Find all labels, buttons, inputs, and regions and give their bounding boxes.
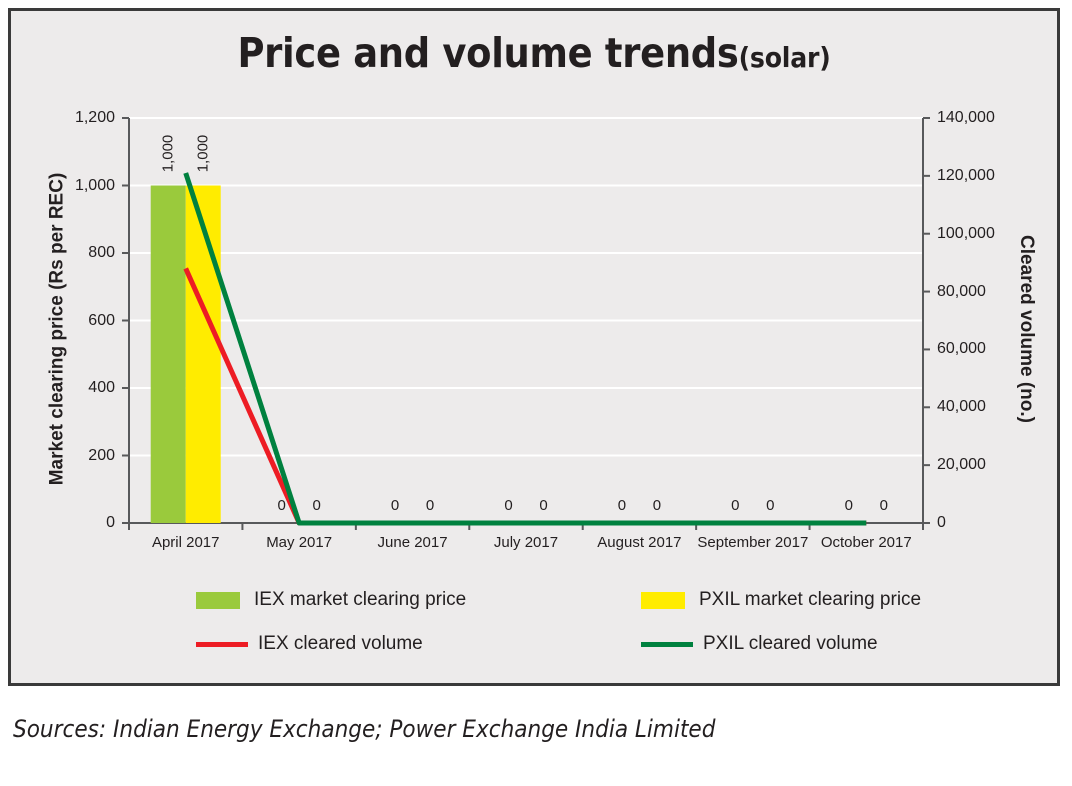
chart-legend: IEX market clearing pricePXIL market cle… xyxy=(11,581,1063,671)
bar-value-label: 1,000 xyxy=(161,129,176,177)
y-axis-left-tick-label: 800 xyxy=(51,245,115,261)
y-axis-right-tick-label: 20,000 xyxy=(937,457,1027,473)
y-axis-right-tick-label: 140,000 xyxy=(937,110,1027,126)
y-axis-right-tick-label: 40,000 xyxy=(937,399,1027,415)
legend-swatch-line-icon xyxy=(641,642,693,647)
y-axis-right-tick-label: 80,000 xyxy=(937,284,1027,300)
bar-value-label: 0 xyxy=(639,498,675,513)
y-axis-left-tick-label: 200 xyxy=(51,448,115,464)
legend-label: PXIL market clearing price xyxy=(699,589,921,611)
legend-swatch-line-icon xyxy=(196,642,248,647)
x-axis-category-label: May 2017 xyxy=(234,535,363,550)
x-axis-category-label: June 2017 xyxy=(348,535,477,550)
y-axis-right-tick-label: 60,000 xyxy=(937,341,1027,357)
y-axis-left-tick-label: 600 xyxy=(51,313,115,329)
legend-item[interactable]: PXIL market clearing price xyxy=(641,589,921,611)
y-axis-left-tick-label: 400 xyxy=(51,380,115,396)
y-axis-left-tick-label: 0 xyxy=(51,515,115,531)
bar-value-label: 0 xyxy=(299,498,335,513)
x-axis-category-label: April 2017 xyxy=(121,535,250,550)
x-axis-category-label: October 2017 xyxy=(802,535,931,550)
legend-label: IEX cleared volume xyxy=(258,633,423,655)
bar-value-label: 0 xyxy=(866,498,902,513)
x-axis-category-label: July 2017 xyxy=(461,535,590,550)
bar-value-label: 0 xyxy=(412,498,448,513)
legend-item[interactable]: IEX market clearing price xyxy=(196,589,466,611)
y-axis-right-tick-label: 0 xyxy=(937,515,1027,531)
y-axis-left-tick-label: 1,000 xyxy=(51,178,115,194)
bar-value-label: 1,000 xyxy=(196,129,211,177)
legend-swatch-bar-icon xyxy=(196,592,240,609)
bar xyxy=(186,186,221,524)
source-note: Sources: Indian Energy Exchange; Power E… xyxy=(13,715,715,743)
y-axis-right-tick-label: 120,000 xyxy=(937,168,1027,184)
bar-value-label: 0 xyxy=(491,498,527,513)
bar-value-label: 0 xyxy=(604,498,640,513)
bar xyxy=(151,186,186,524)
bar-value-label: 0 xyxy=(526,498,562,513)
x-axis-category-label: September 2017 xyxy=(688,535,817,550)
legend-item[interactable]: IEX cleared volume xyxy=(196,633,423,655)
legend-item[interactable]: PXIL cleared volume xyxy=(641,633,878,655)
bar-value-label: 0 xyxy=(752,498,788,513)
x-axis-category-label: August 2017 xyxy=(575,535,704,550)
chart-panel: Price and volume trends(solar) Market cl… xyxy=(8,8,1060,686)
legend-label: IEX market clearing price xyxy=(254,589,466,611)
legend-swatch-bar-icon xyxy=(641,592,685,609)
legend-label: PXIL cleared volume xyxy=(703,633,878,655)
bar-value-label: 0 xyxy=(831,498,867,513)
y-axis-left-tick-label: 1,200 xyxy=(51,110,115,126)
bar-value-label: 0 xyxy=(264,498,300,513)
bar-value-label: 0 xyxy=(717,498,753,513)
bar-value-label: 0 xyxy=(377,498,413,513)
y-axis-right-tick-label: 100,000 xyxy=(937,226,1027,242)
